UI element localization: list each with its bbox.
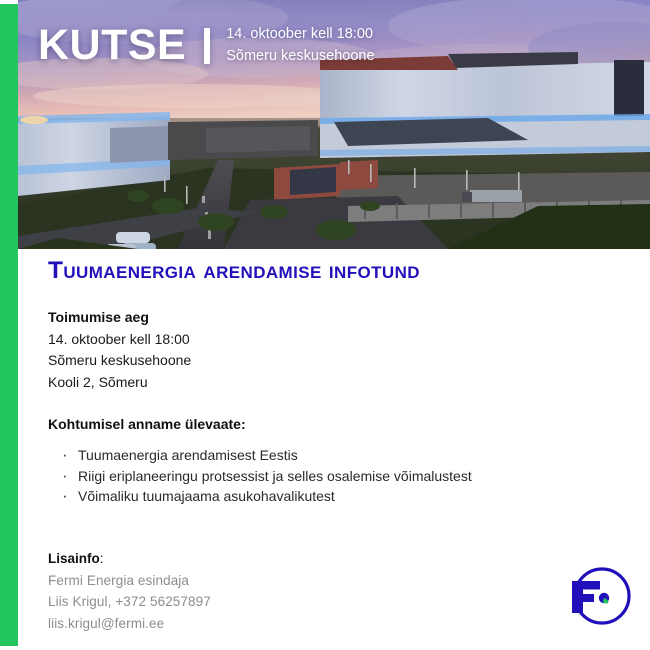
hero-meta: 14. oktoober kell 18:00 Sõmeru keskuseho… xyxy=(226,24,374,66)
time-block-line-1: 14. oktoober kell 18:00 xyxy=(48,329,628,351)
fermi-energia-logo xyxy=(558,557,636,635)
contact-label-text: Lisainfo xyxy=(48,551,100,566)
vertical-divider xyxy=(204,28,210,64)
list-item: Riigi eriplaneeringu protsessist ja sell… xyxy=(60,467,490,487)
main-content: Tuumaenergia arendamise infotund Toimumi… xyxy=(48,258,628,508)
contact-line-email[interactable]: liis.krigul@fermi.ee xyxy=(48,613,468,635)
time-block-line-2: Sõmeru keskusehoone xyxy=(48,350,628,372)
contact-line-organisation: Fermi Energia esindaja xyxy=(48,570,468,592)
overview-bullet-list: Tuumaenergia arendamisest Eestis Riigi e… xyxy=(60,446,628,508)
invitation-poster: KUTSE 14. oktoober kell 18:00 Sõmeru kes… xyxy=(0,0,650,650)
page-title: Tuumaenergia arendamise infotund xyxy=(48,258,628,285)
contact-footer: Lisainfo: Fermi Energia esindaja Liis Kr… xyxy=(48,548,468,635)
hero-text-block: KUTSE 14. oktoober kell 18:00 Sõmeru kes… xyxy=(38,24,375,67)
contact-label: Lisainfo: xyxy=(48,548,468,570)
fermi-logo-icon xyxy=(558,557,636,635)
time-block: Toimumise aeg 14. oktoober kell 18:00 Sõ… xyxy=(48,307,628,394)
kutse-badge: KUTSE xyxy=(38,24,186,67)
time-block-line-3: Kooli 2, Sõmeru xyxy=(48,372,628,394)
time-block-label: Toimumise aeg xyxy=(48,307,628,329)
overview-heading: Kohtumisel anname ülevaate: xyxy=(48,416,628,432)
hero-date-line: 14. oktoober kell 18:00 xyxy=(226,24,374,45)
contact-line-person: Liis Krigul, +372 56257897 xyxy=(48,591,468,613)
hero-venue-line: Sõmeru keskusehoone xyxy=(226,46,374,67)
list-item: Tuumaenergia arendamisest Eestis xyxy=(60,446,490,466)
list-item: Võimaliku tuumajaama asukohavalikutest xyxy=(60,487,490,507)
contact-label-colon: : xyxy=(100,551,104,566)
